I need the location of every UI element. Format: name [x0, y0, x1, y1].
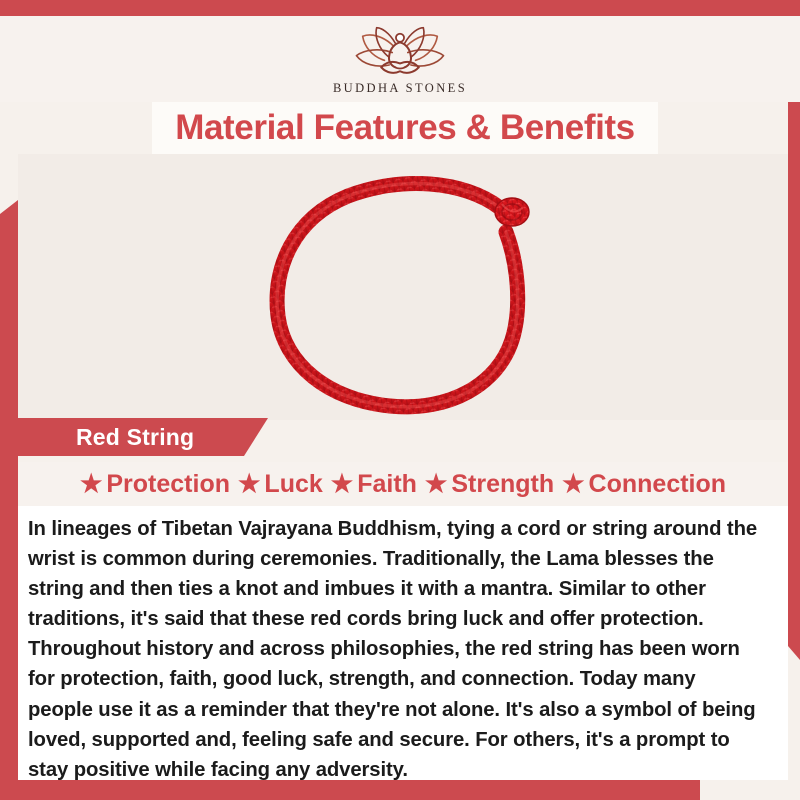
title-banner: Material Features & Benefits: [152, 102, 658, 154]
red-braided-string-bracelet-icon: [250, 168, 560, 420]
poster-canvas: BUDDHA STONES Material Features & Benefi…: [0, 0, 800, 800]
star-icon: ★: [80, 472, 102, 497]
benefit-label-strength: Strength: [451, 470, 554, 499]
benefit-item-4: ★ Strength: [425, 470, 554, 499]
brand-logo: BUDDHA STONES: [333, 23, 467, 96]
benefit-label-luck: Luck: [264, 470, 322, 499]
benefits-row: ★ Protection ★ Luck ★ Faith ★ Strength ★…: [18, 462, 788, 506]
benefit-item-2: ★ Luck: [238, 470, 323, 499]
benefit-label-connection: Connection: [589, 470, 727, 499]
benefit-label-faith: Faith: [357, 470, 417, 499]
lotus-meditation-icon: [344, 23, 456, 79]
benefit-item-1: ★ Protection: [80, 470, 230, 499]
star-icon: ★: [331, 472, 353, 497]
description-text: In lineages of Tibetan Vajrayana Buddhis…: [28, 514, 764, 785]
brand-name: BUDDHA STONES: [333, 81, 467, 96]
description-panel: In lineages of Tibetan Vajrayana Buddhis…: [18, 506, 788, 780]
page-title: Material Features & Benefits: [175, 108, 635, 148]
star-icon: ★: [238, 472, 260, 497]
star-icon: ★: [562, 472, 584, 497]
product-image-area: [18, 154, 788, 420]
star-icon: ★: [425, 472, 447, 497]
benefit-label-protection: Protection: [106, 470, 230, 499]
brand-header: BUDDHA STONES: [0, 16, 800, 102]
benefit-item-3: ★ Faith: [331, 470, 417, 499]
benefit-item-5: ★ Connection: [562, 470, 726, 499]
left-accent-bar: [0, 200, 18, 800]
product-name-banner: Red String: [18, 418, 268, 456]
top-accent-bar: [0, 0, 800, 16]
product-name-label: Red String: [18, 424, 194, 451]
